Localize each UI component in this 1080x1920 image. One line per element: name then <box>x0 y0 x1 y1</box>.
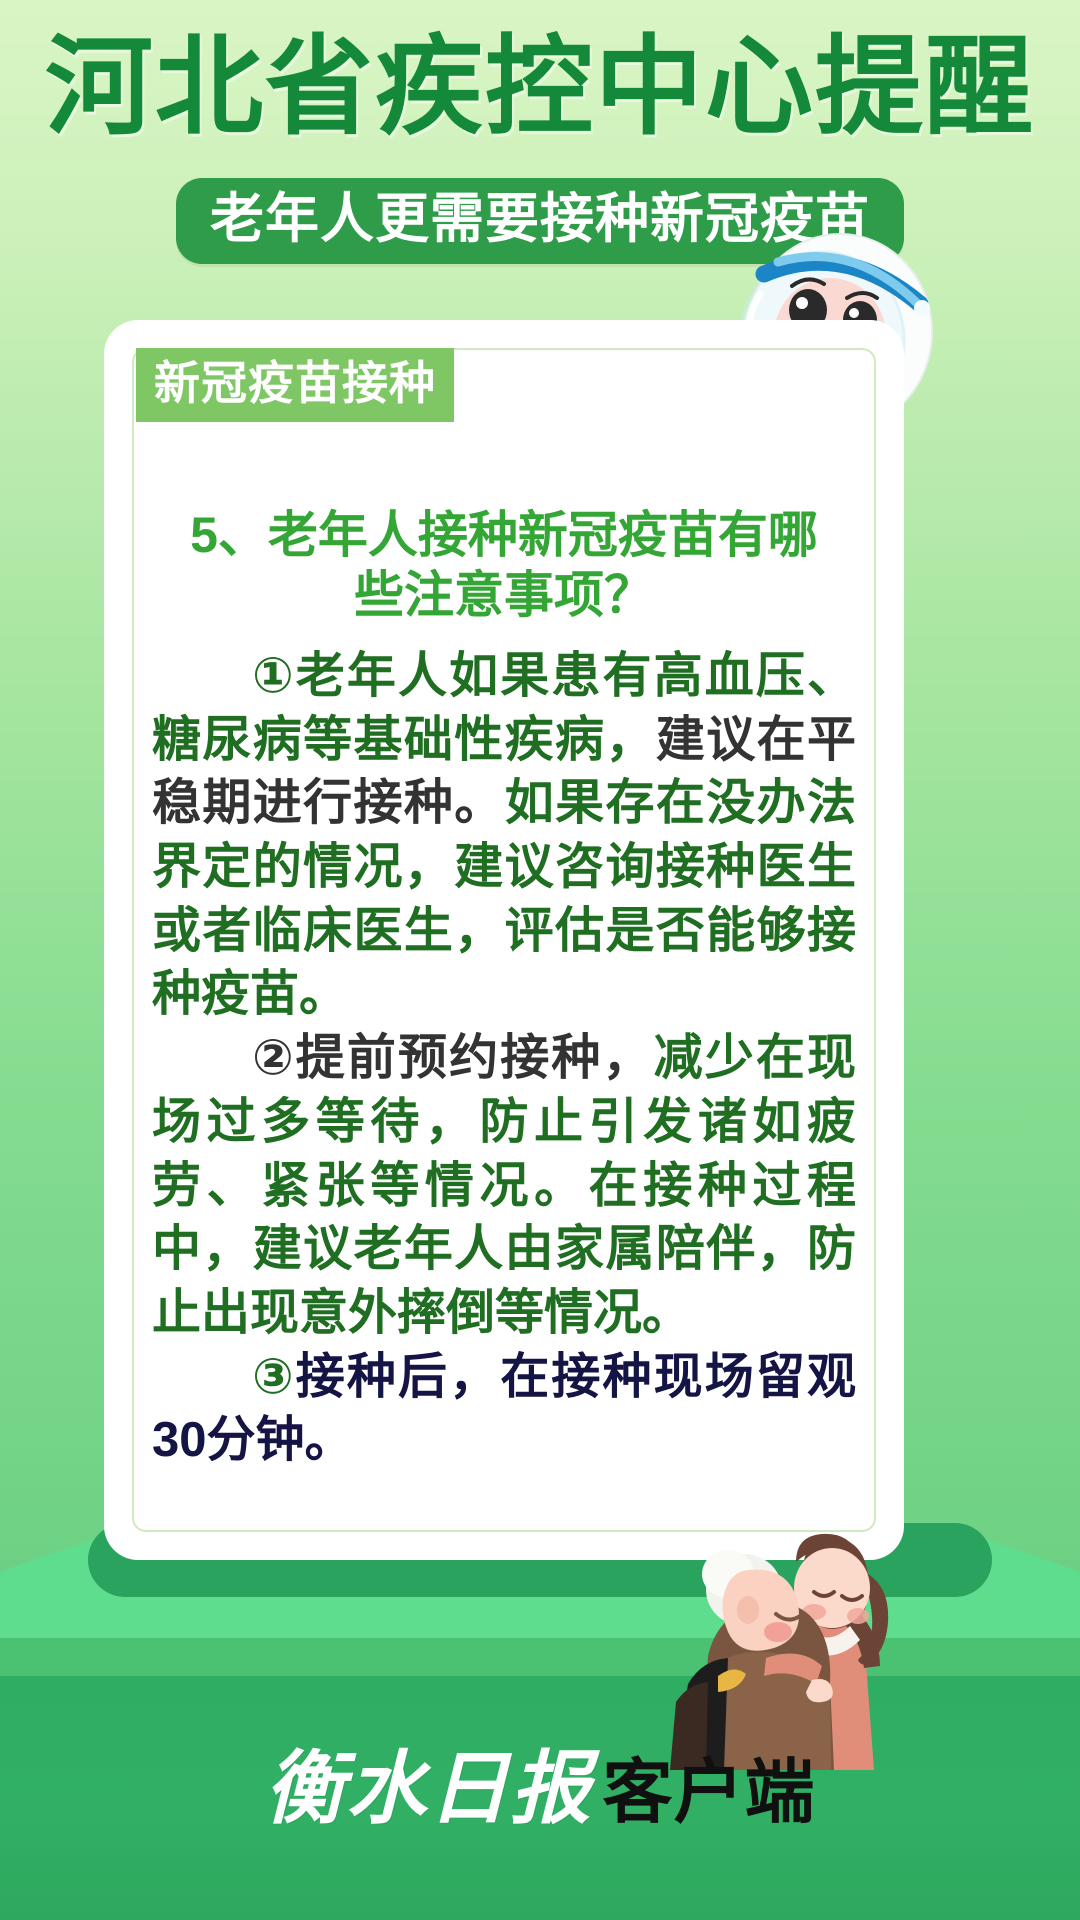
body-paragraph-3: ③接种后，在接种现场留观30分钟。 <box>152 1346 856 1473</box>
footer-paper-name: 衡水日报 <box>265 1746 593 1834</box>
section-tag-label: 新冠疫苗接种 <box>136 348 454 422</box>
question-heading: 5、老年人接种新冠疫苗有哪些注意事项？ <box>168 505 840 625</box>
footer-app-name: 客户端 <box>603 1753 816 1831</box>
page-title: 河北省疾控中心提醒 <box>0 32 1080 145</box>
body-paragraph-2: ②提前预约接种，减少在现场过多等待，防止引发诸如疲劳、紧张等情况。在接种过程中，… <box>152 1027 856 1345</box>
item3-marker: ③ <box>250 1350 296 1404</box>
body-text: ①老年人如果患有高血压、糖尿病等基础性疾病，建议在平稳期进行接种。如果存在没办法… <box>152 645 856 1473</box>
footer-logo: 衡水日报客户端 <box>0 1724 1080 1840</box>
body-paragraph-1: ①老年人如果患有高血压、糖尿病等基础性疾病，建议在平稳期进行接种。如果存在没办法… <box>152 645 856 1027</box>
item2-dark: ②提前预约接种， <box>250 1031 654 1085</box>
content-card: 新冠疫苗接种 5、老年人接种新冠疫苗有哪些注意事项？ ①老年人如果患有高血压、糖… <box>104 320 904 1560</box>
